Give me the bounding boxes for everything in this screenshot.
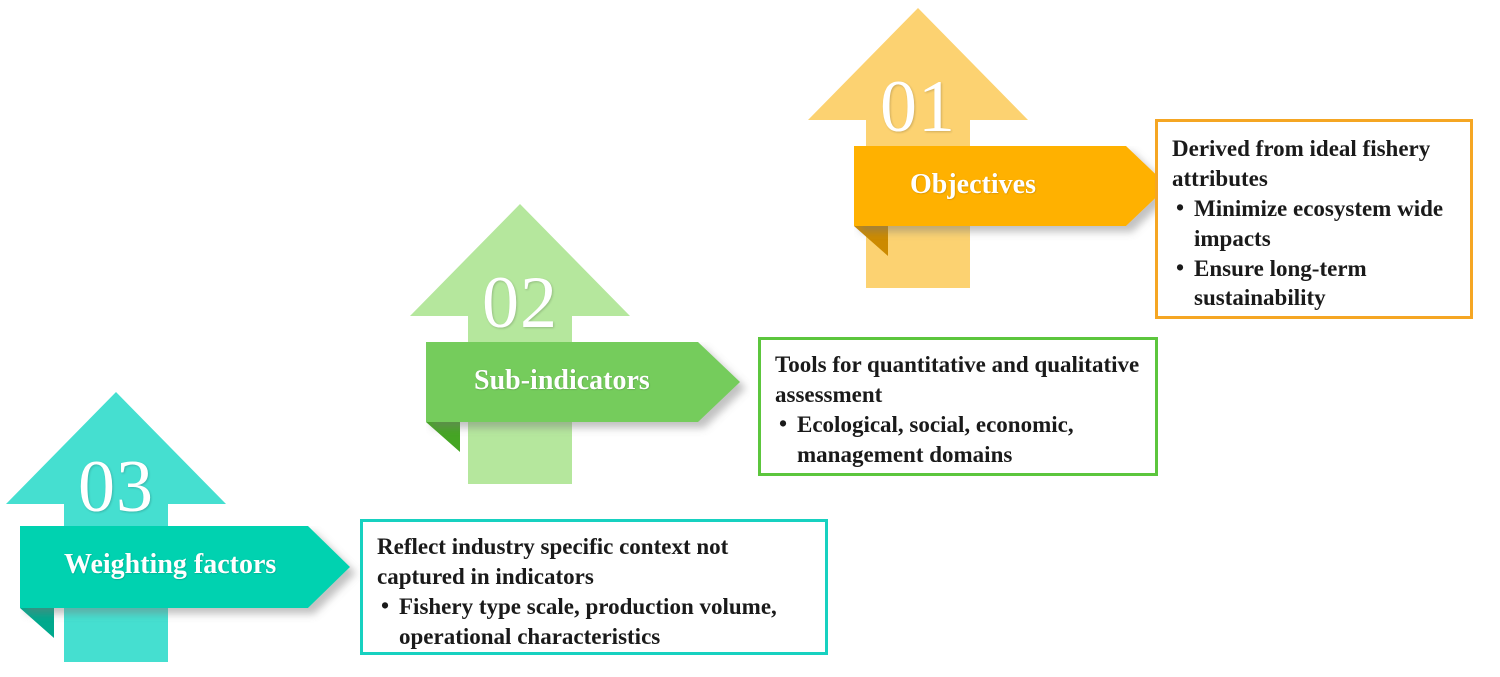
description-lead-03: Reflect industry specific context not ca… bbox=[377, 532, 813, 592]
bullet-icon: • bbox=[1176, 253, 1184, 283]
ribbon-label-02: Sub-indicators bbox=[474, 365, 650, 397]
description-box-03: Reflect industry specific context not ca… bbox=[360, 519, 828, 655]
ribbon-label-03: Weighting factors bbox=[64, 549, 276, 581]
ribbon-label-01: Objectives bbox=[910, 169, 1036, 201]
description-bullets-01: •Minimize ecosystem wide impacts •Ensure… bbox=[1172, 194, 1458, 314]
list-item: •Ensure long-term sustainability bbox=[1172, 254, 1458, 314]
description-box-01: Derived from ideal fishery attributes •M… bbox=[1155, 119, 1473, 319]
bullet-text: Ensure long-term sustainability bbox=[1194, 256, 1367, 311]
ribbon-03[interactable]: Weighting factors bbox=[20, 526, 360, 638]
ribbon-02[interactable]: Sub-indicators bbox=[426, 342, 750, 452]
description-lead-01: Derived from ideal fishery attributes bbox=[1172, 134, 1458, 194]
bullet-text: Minimize ecosystem wide impacts bbox=[1194, 196, 1443, 251]
description-bullets-03: •Fishery type scale, production volume, … bbox=[377, 592, 813, 652]
description-bullets-02: •Ecological, social, economic, managemen… bbox=[775, 410, 1143, 470]
diagram-canvas: 01 Objectives Derived from ideal fishe bbox=[0, 0, 1500, 677]
bullet-icon: • bbox=[779, 409, 787, 439]
list-item: •Minimize ecosystem wide impacts bbox=[1172, 194, 1458, 254]
bullet-text: Fishery type scale, production volume, o… bbox=[399, 594, 777, 649]
ribbon-01[interactable]: Objectives bbox=[854, 146, 1178, 256]
bullet-text: Ecological, social, economic, management… bbox=[797, 412, 1074, 467]
description-box-02: Tools for quantitative and qualitative a… bbox=[758, 337, 1158, 476]
bullet-icon: • bbox=[381, 591, 389, 621]
bullet-icon: • bbox=[1176, 193, 1184, 223]
list-item: •Ecological, social, economic, managemen… bbox=[775, 410, 1143, 470]
description-lead-02: Tools for quantitative and qualitative a… bbox=[775, 350, 1143, 410]
list-item: •Fishery type scale, production volume, … bbox=[377, 592, 813, 652]
